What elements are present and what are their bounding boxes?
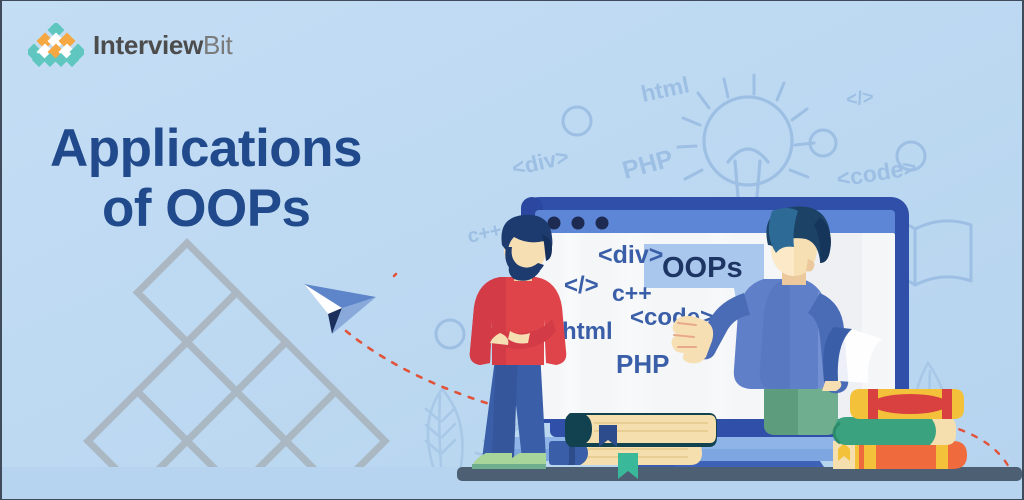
- svg-text:</>: </>: [564, 272, 599, 299]
- brand-name-bold: Interview: [93, 30, 203, 60]
- banner-canvas: html <div> PHP <code> </> c++: [0, 0, 1024, 500]
- page-title-line2: of OOPs: [50, 179, 430, 239]
- titlebar-dot: [572, 217, 585, 230]
- titlebar-dot: [596, 217, 609, 230]
- interviewbit-logo[interactable]: InterviewBit: [28, 23, 232, 67]
- svg-text:c++: c++: [612, 280, 652, 306]
- svg-text:PHP: PHP: [616, 349, 669, 379]
- interviewbit-diamond-logo-icon: [28, 23, 84, 67]
- brand-name-light: Bit: [203, 30, 232, 60]
- oops-illustration: OOPs <div> </> c++ <code> html PHP: [2, 1, 1024, 500]
- svg-text:html: html: [562, 318, 613, 345]
- page-title-line1: Applications: [50, 119, 362, 178]
- page-title: Applications of OOPs: [50, 119, 430, 239]
- ground-platform: [457, 467, 1022, 481]
- svg-text:<div>: <div>: [598, 241, 663, 269]
- brand-wordmark: InterviewBit: [93, 32, 232, 58]
- oops-bubble-label: OOPs: [662, 252, 743, 284]
- monitor-titlebar: [535, 210, 895, 236]
